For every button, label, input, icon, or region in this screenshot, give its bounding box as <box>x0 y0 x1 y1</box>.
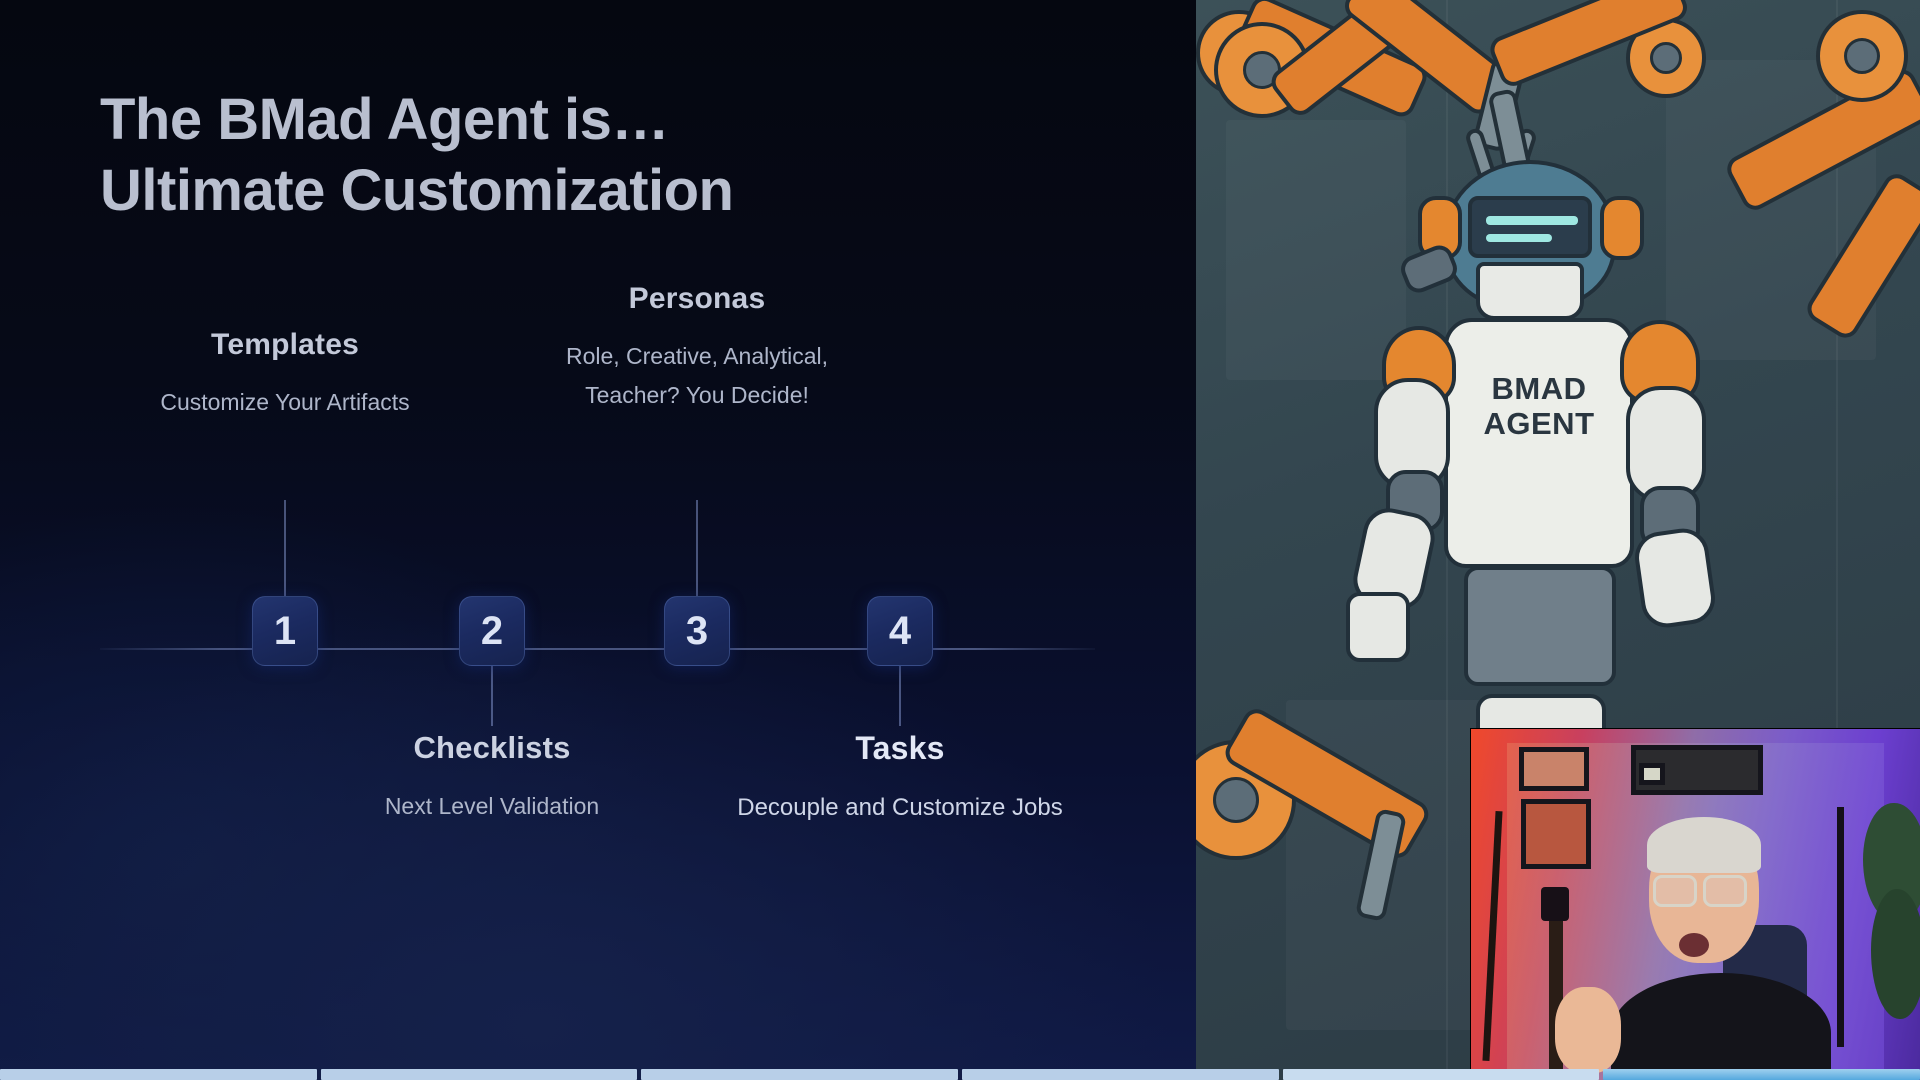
node-label-4: Tasks Decouple and Customize Jobs <box>685 730 1115 828</box>
progress-segment[interactable] <box>0 1069 317 1080</box>
timeline-infographic: 1 Templates Customize Your Artifacts 2 C… <box>0 560 1196 980</box>
chest-label-line-2: AGENT <box>1444 407 1634 442</box>
wall-picture-frame <box>1521 799 1591 869</box>
guitar-headstock <box>1541 887 1569 921</box>
slide-canvas: The BMad Agent is… Ultimate Customizatio… <box>0 0 1196 1080</box>
light-stand-rod <box>1837 807 1844 1047</box>
robot-forearm-right <box>1632 525 1719 630</box>
robot-arm-joint <box>1816 10 1908 102</box>
robot-torso <box>1444 318 1634 568</box>
robot-jaw <box>1476 262 1584 320</box>
presenter-glasses-right <box>1703 875 1747 907</box>
node-number-badge-3[interactable]: 3 <box>664 596 730 666</box>
node-heading-1: Templates <box>70 328 500 362</box>
presentation-screen: The BMad Agent is… Ultimate Customizatio… <box>0 0 1920 1080</box>
robot-pelvis <box>1464 566 1616 686</box>
node-label-1: Templates Customize Your Artifacts <box>70 328 500 422</box>
connector-stem-down <box>491 666 493 726</box>
node-number-badge-2[interactable]: 2 <box>459 596 525 666</box>
node-number-badge-4[interactable]: 4 <box>867 596 933 666</box>
chest-label-line-1: BMAD <box>1444 372 1634 407</box>
page-title: The BMad Agent is… Ultimate Customizatio… <box>100 84 1060 227</box>
bg-panel <box>1226 120 1406 380</box>
wall-picture-inset <box>1639 763 1665 785</box>
timeline-axis <box>100 648 1095 650</box>
progress-segment[interactable] <box>1283 1069 1600 1080</box>
node-subtitle-1: Customize Your Artifacts <box>70 383 500 422</box>
node-heading-2: Checklists <box>277 730 707 766</box>
progress-segment[interactable] <box>321 1069 638 1080</box>
node-heading-3: Personas <box>482 282 912 316</box>
title-line-2: Ultimate Customization <box>100 155 1060 226</box>
progress-segment[interactable] <box>962 1069 1279 1080</box>
robot-visor-glow <box>1486 216 1578 225</box>
robot-upper-arm-right <box>1626 386 1706 502</box>
robot-hand-left <box>1346 592 1410 662</box>
robot-visor <box>1468 196 1592 258</box>
presenter-glasses-left <box>1653 875 1697 907</box>
node-subtitle-2: Next Level Validation <box>277 787 707 826</box>
node-subtitle-3: Role, Creative, Analytical, Teacher? You… <box>537 337 857 414</box>
presenter-webcam-overlay[interactable] <box>1470 728 1920 1080</box>
progress-segment[interactable] <box>641 1069 958 1080</box>
robot-ear-right <box>1600 196 1644 260</box>
node-label-3: Personas Role, Creative, Analytical, Tea… <box>482 282 912 414</box>
robot-chest-label: BMAD AGENT <box>1444 372 1634 441</box>
connector-stem-up <box>284 500 286 596</box>
title-line-1: The BMad Agent is… <box>100 84 1060 155</box>
node-heading-4: Tasks <box>685 730 1115 767</box>
node-subtitle-4: Decouple and Customize Jobs <box>730 788 1070 828</box>
connector-stem-down <box>899 666 901 726</box>
presenter-mouth <box>1679 933 1709 957</box>
presenter-hair <box>1647 817 1761 873</box>
node-label-2: Checklists Next Level Validation <box>277 730 707 826</box>
progress-segment-active[interactable] <box>1603 1069 1920 1080</box>
connector-stem-up <box>696 500 698 596</box>
wall-picture-frame <box>1519 747 1589 791</box>
robot-visor-glow <box>1486 234 1552 242</box>
node-number-badge-1[interactable]: 1 <box>252 596 318 666</box>
presenter-hand <box>1555 987 1621 1073</box>
slide-progress-bar[interactable] <box>0 1069 1920 1080</box>
